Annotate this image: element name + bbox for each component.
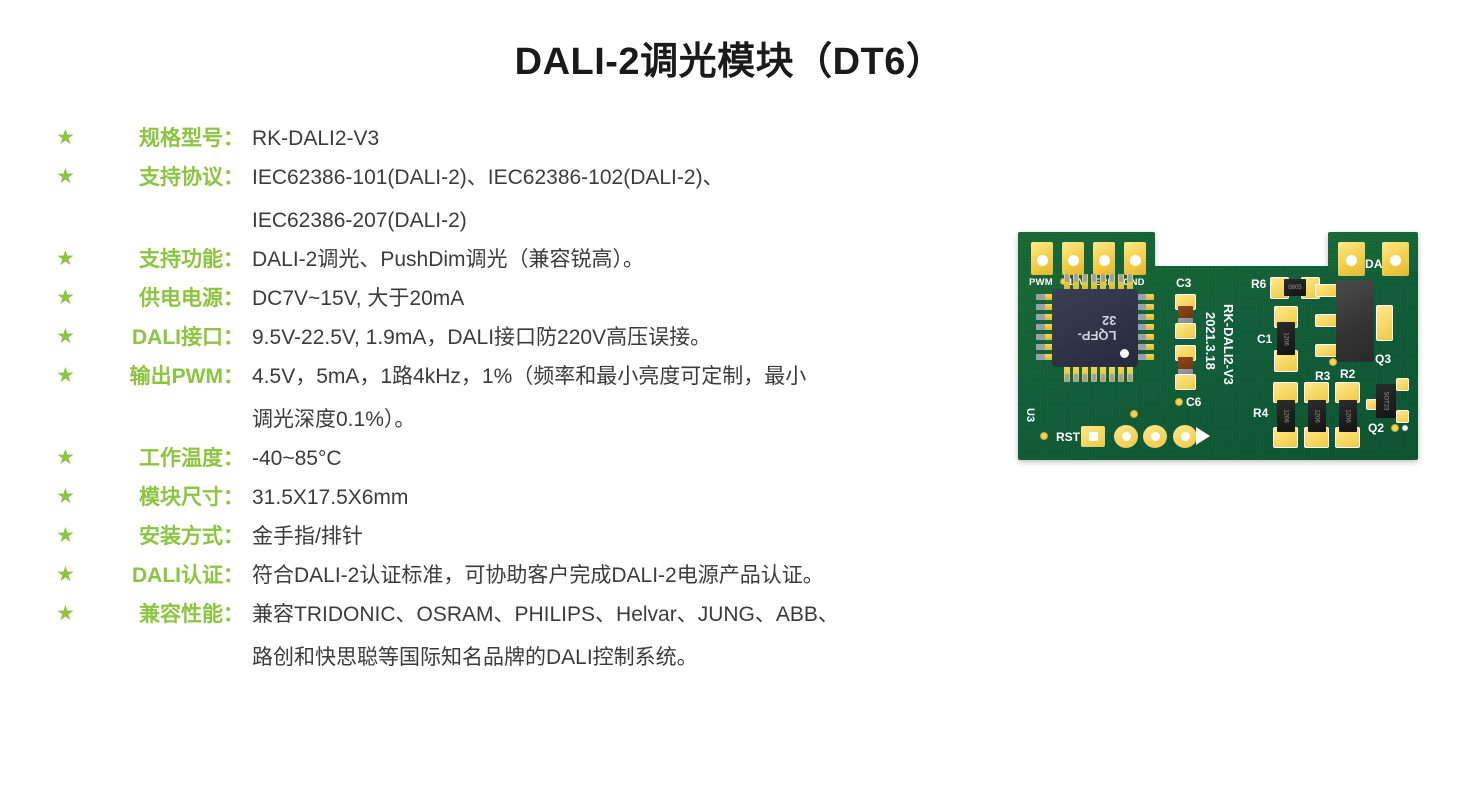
q2-pad-right <box>1396 378 1409 391</box>
via-hole-bottom <box>1130 410 1138 418</box>
pad-pwm <box>1031 242 1053 275</box>
spec-value: RK-DALI2-V3 <box>244 124 956 154</box>
spec-label: 模块尺寸： <box>96 483 244 513</box>
spec-label: 兼容性能： <box>96 600 244 630</box>
silk-ref-q2: Q2 <box>1368 421 1384 435</box>
q2-marking: SOT23 <box>1383 391 1389 410</box>
spec-row-dali-certification: ★ DALI认证： 符合DALI-2认证标准，可协助客户完成DALI-2电源产品… <box>56 561 956 591</box>
r6-body: 0805 <box>1284 279 1306 296</box>
via-hole-c6 <box>1175 398 1183 406</box>
spec-list: ★ 规格型号： RK-DALI2-V3 ★ 支持协议： IEC62386-101… <box>56 124 956 682</box>
spec-value: 31.5X17.5X6mm <box>244 483 956 513</box>
silk-ref-r4: R4 <box>1253 406 1268 420</box>
spec-row-compatibility: ★ 兼容性能： 兼容TRIDONIC、OSRAM、PHILIPS、Helvar、… <box>56 600 956 673</box>
silk-ref-u3: U3 <box>1024 408 1036 422</box>
spec-value-line: -40~85°C <box>252 444 956 474</box>
spec-value-line: 4.5V，5mA，1路4kHz，1%（频率和最小亮度可定制，最小 <box>252 362 956 392</box>
star-icon: ★ <box>56 448 76 468</box>
star-cell: ★ <box>56 362 96 387</box>
spec-value: DC7V~15V, 大于20mA <box>244 284 956 314</box>
pad-gnd <box>1124 242 1146 275</box>
spec-value-line: 金手指/排针 <box>252 522 956 552</box>
spec-row-power-supply: ★ 供电电源： DC7V~15V, 大于20mA <box>56 284 956 314</box>
pad-12v <box>1062 242 1084 275</box>
spec-value-line: 路创和快思聪等国际知名品牌的DALI控制系统。 <box>252 643 956 673</box>
pad-da-1 <box>1338 242 1365 276</box>
silk-ref-r6: R6 <box>1251 277 1266 291</box>
pcb-board: PWM +12V ERR GND DA <box>1018 232 1418 460</box>
silk-ref-c6: C6 <box>1186 395 1201 409</box>
spec-row-function: ★ 支持功能： DALI-2调光、PushDim调光（兼容锐高）。 <box>56 245 956 275</box>
star-cell: ★ <box>56 163 96 188</box>
spec-value: IEC62386-101(DALI-2)、IEC62386-102(DALI-2… <box>244 163 956 236</box>
q3-tab-pad <box>1376 305 1393 341</box>
qfp-pin1-dot <box>1120 349 1129 358</box>
spec-value: 金手指/排针 <box>244 522 956 552</box>
spec-value: 4.5V，5mA，1路4kHz，1%（频率和最小亮度可定制，最小 调光深度0.1… <box>244 362 956 435</box>
c6-pad-bottom <box>1175 374 1196 390</box>
r4-marking: 1206 <box>1283 409 1289 422</box>
spec-row-dali-interface: ★ DALI接口： 9.5V-22.5V, 1.9mA，DALI接口防220V高… <box>56 323 956 353</box>
via-hole-q2a <box>1391 424 1399 432</box>
r3-marking: 1206 <box>1314 409 1320 422</box>
star-icon: ★ <box>56 288 76 308</box>
spec-value-line: 9.5V-22.5V, 1.9mA，DALI接口防220V高压误接。 <box>252 323 956 353</box>
spec-row-mounting: ★ 安装方式： 金手指/排针 <box>56 522 956 552</box>
spec-value-line: 兼容TRIDONIC、OSRAM、PHILIPS、Helvar、JUNG、ABB… <box>252 600 956 630</box>
spec-label: 规格型号： <box>96 124 244 154</box>
r2-marking: 1206 <box>1345 409 1351 422</box>
spec-value: 9.5V-22.5V, 1.9mA，DALI接口防220V高压误接。 <box>244 323 956 353</box>
star-icon: ★ <box>56 565 76 585</box>
silk-board-name: RK-DALI2-V3 <box>1221 304 1236 385</box>
test-pad-1 <box>1114 425 1138 448</box>
r4-body: 1206 <box>1277 400 1295 432</box>
star-icon: ★ <box>56 366 76 386</box>
c3-pad-bottom <box>1175 323 1196 339</box>
spec-label: DALI接口： <box>96 323 244 353</box>
silk-ref-r2: R2 <box>1340 367 1355 381</box>
spec-value: -40~85°C <box>244 444 956 474</box>
star-icon: ★ <box>56 327 76 347</box>
spec-value-line: IEC62386-101(DALI-2)、IEC62386-102(DALI-2… <box>252 163 956 193</box>
spec-label: 安装方式： <box>96 522 244 552</box>
star-icon: ★ <box>56 167 76 187</box>
spec-label: 输出PWM： <box>96 362 244 392</box>
spec-row-operating-temperature: ★ 工作温度： -40~85°C <box>56 444 956 474</box>
star-icon: ★ <box>56 526 76 546</box>
c1-body: 1206 <box>1277 322 1295 355</box>
spec-value: DALI-2调光、PushDim调光（兼容锐高）。 <box>244 245 956 275</box>
star-cell: ★ <box>56 284 96 309</box>
spec-label: 工作温度： <box>96 444 244 474</box>
r2-body: 1206 <box>1339 400 1357 432</box>
star-icon: ★ <box>56 604 76 624</box>
via-hole-q2b <box>1402 425 1408 431</box>
test-pad-rst <box>1081 426 1105 447</box>
spec-row-module-size: ★ 模块尺寸： 31.5X17.5X6mm <box>56 483 956 513</box>
silk-ref-q3: Q3 <box>1375 352 1391 366</box>
spec-value-line: RK-DALI2-V3 <box>252 124 956 154</box>
q2-pad-right2 <box>1396 410 1409 423</box>
spec-row-protocol: ★ 支持协议： IEC62386-101(DALI-2)、IEC62386-10… <box>56 163 956 236</box>
spec-value: 符合DALI-2认证标准，可协助客户完成DALI-2电源产品认证。 <box>244 561 956 591</box>
via-hole-q3 <box>1329 358 1337 366</box>
silk-ref-c1: C1 <box>1257 332 1272 346</box>
q3-pad-3 <box>1315 344 1337 357</box>
page-title: DALI-2调光模块（DT6） <box>0 30 1459 85</box>
spec-row-model: ★ 规格型号： RK-DALI2-V3 <box>56 124 956 154</box>
star-icon: ★ <box>56 128 76 148</box>
spec-value-line: IEC62386-207(DALI-2) <box>252 206 956 236</box>
star-cell: ★ <box>56 600 96 625</box>
pad-da-2 <box>1382 242 1409 276</box>
star-cell: ★ <box>56 483 96 508</box>
spec-value-line: DALI-2调光、PushDim调光（兼容锐高）。 <box>252 245 956 275</box>
star-icon: ★ <box>56 487 76 507</box>
pad-err <box>1093 242 1115 275</box>
star-cell: ★ <box>56 444 96 469</box>
star-cell: ★ <box>56 124 96 149</box>
star-cell: ★ <box>56 245 96 270</box>
qfp-32-chip: LQFP-32 <box>1052 289 1138 367</box>
r3-body: 1206 <box>1308 400 1326 432</box>
qfp-chip-label: LQFP-32 <box>1074 313 1117 343</box>
star-cell: ★ <box>56 323 96 348</box>
r6-marking: 0805 <box>1288 285 1301 291</box>
polarity-triangle-icon <box>1196 427 1210 445</box>
pcb-product-image: PWM +12V ERR GND DA <box>1018 232 1418 460</box>
c1-marking: 1206 <box>1283 332 1289 345</box>
via-hole-u3 <box>1040 432 1048 440</box>
spec-value: 兼容TRIDONIC、OSRAM、PHILIPS、Helvar、JUNG、ABB… <box>244 600 956 673</box>
silk-ref-rst: RST <box>1056 430 1080 444</box>
spec-value-line: 31.5X17.5X6mm <box>252 483 956 513</box>
spec-label: 支持功能： <box>96 245 244 275</box>
spec-label: 支持协议： <box>96 163 244 193</box>
test-pad-3 <box>1173 425 1197 448</box>
spec-label: DALI认证： <box>96 561 244 591</box>
spec-value-line: 调光深度0.1%）。 <box>252 405 956 435</box>
silk-ref-r3: R3 <box>1315 369 1330 383</box>
silk-board-date: 2021.3.18 <box>1203 312 1218 370</box>
silk-ref-c3: C3 <box>1176 276 1191 290</box>
q3-body <box>1336 280 1374 362</box>
pad-label-da: DA <box>1365 257 1383 271</box>
spec-value-line: DC7V~15V, 大于20mA <box>252 284 956 314</box>
q2-body: SOT23 <box>1376 384 1396 418</box>
q3-pad-2 <box>1315 314 1337 327</box>
q3-pad-1 <box>1315 284 1337 297</box>
spec-value-line: 符合DALI-2认证标准，可协助客户完成DALI-2电源产品认证。 <box>252 561 956 591</box>
star-icon: ★ <box>56 249 76 269</box>
pad-label-pwm: PWM <box>1029 277 1053 288</box>
spec-label: 供电电源： <box>96 284 244 314</box>
star-cell: ★ <box>56 522 96 547</box>
star-cell: ★ <box>56 561 96 586</box>
test-pad-2 <box>1143 425 1167 448</box>
spec-row-output-pwm: ★ 输出PWM： 4.5V，5mA，1路4kHz，1%（频率和最小亮度可定制，最… <box>56 362 956 435</box>
